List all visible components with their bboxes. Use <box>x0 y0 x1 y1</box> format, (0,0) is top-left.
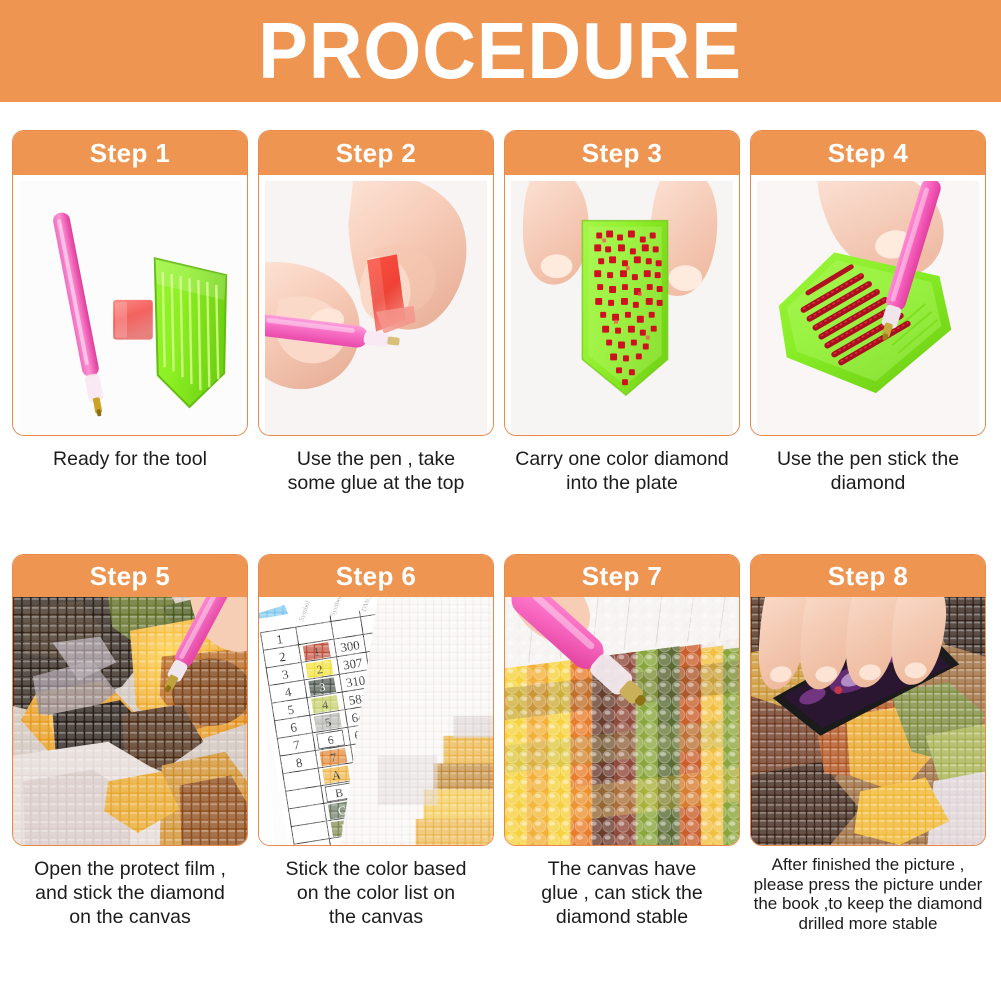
step-image-8 <box>751 597 985 845</box>
step-header-7: Step 7 <box>505 555 739 597</box>
step-image-7 <box>505 597 739 845</box>
step-card-5: Step 5 <box>12 554 248 846</box>
step-caption-4: Use the pen stick thediamond <box>750 448 986 496</box>
step-cell-4: Step 4 <box>750 130 986 545</box>
step-header-4: Step 4 <box>751 131 985 175</box>
procedure-infographic: PROCEDURE Step 1 <box>0 0 1001 1001</box>
pressing-book-illustration <box>751 597 985 845</box>
steps-row-bottom: Step 5 <box>0 554 1001 984</box>
page-header-banner: PROCEDURE <box>0 0 1001 102</box>
step-caption-5: Open the protect film ,and stick the dia… <box>12 858 248 929</box>
pen-picking-diamond-illustration <box>757 181 979 435</box>
step-cell-6: Step 6 <box>258 554 494 984</box>
step-cell-3: Step 3 <box>504 130 740 545</box>
page-title: PROCEDURE <box>259 11 743 91</box>
steps-grid: Step 1 <box>0 102 1001 1001</box>
tools-illustration <box>19 181 241 435</box>
step-header-3: Step 3 <box>505 131 739 175</box>
step-caption-8: After finished the picture ,please press… <box>750 855 986 934</box>
step-image-5 <box>13 597 247 845</box>
step-caption-1: Ready for the tool <box>12 448 248 472</box>
round-beads-closeup-illustration <box>505 597 739 845</box>
step-header-2: Step 2 <box>259 131 493 175</box>
step-cell-1: Step 1 <box>12 130 248 545</box>
step-card-7: Step 7 <box>504 554 740 846</box>
step-image-1 <box>13 175 247 436</box>
sunflower-mosaic-illustration <box>13 597 247 845</box>
step-cell-7: Step 7 <box>504 554 740 984</box>
pen-in-glue-illustration <box>265 181 487 435</box>
step-header-5: Step 5 <box>13 555 247 597</box>
step-caption-2: Use the pen , takesome glue at the top <box>258 448 494 496</box>
color-chart-illustration: Symbol Symbol DMC <box>259 597 493 845</box>
step-caption-3: Carry one color diamondinto the plate <box>504 448 740 496</box>
step-caption-7: The canvas haveglue , can stick thediamo… <box>504 858 740 929</box>
step-header-8: Step 8 <box>751 555 985 597</box>
step-image-2 <box>259 175 493 436</box>
step-card-8: Step 8 <box>750 554 986 846</box>
step-header-6: Step 6 <box>259 555 493 597</box>
step-card-3: Step 3 <box>504 130 740 436</box>
step-card-2: Step 2 <box>258 130 494 436</box>
step-card-6: Step 6 <box>258 554 494 846</box>
steps-row-top: Step 1 <box>0 130 1001 545</box>
step-cell-5: Step 5 <box>12 554 248 984</box>
step-image-4 <box>751 175 985 436</box>
tray-with-diamonds-illustration <box>511 181 733 435</box>
step-image-6: Symbol Symbol DMC <box>259 597 493 845</box>
step-cell-8: Step 8 <box>750 554 986 984</box>
step-card-1: Step 1 <box>12 130 248 436</box>
step-caption-6: Stick the color basedon the color list o… <box>258 858 494 929</box>
step-card-4: Step 4 <box>750 130 986 436</box>
step-cell-2: Step 2 <box>258 130 494 545</box>
step-image-3 <box>505 175 739 436</box>
step-header-1: Step 1 <box>13 131 247 175</box>
